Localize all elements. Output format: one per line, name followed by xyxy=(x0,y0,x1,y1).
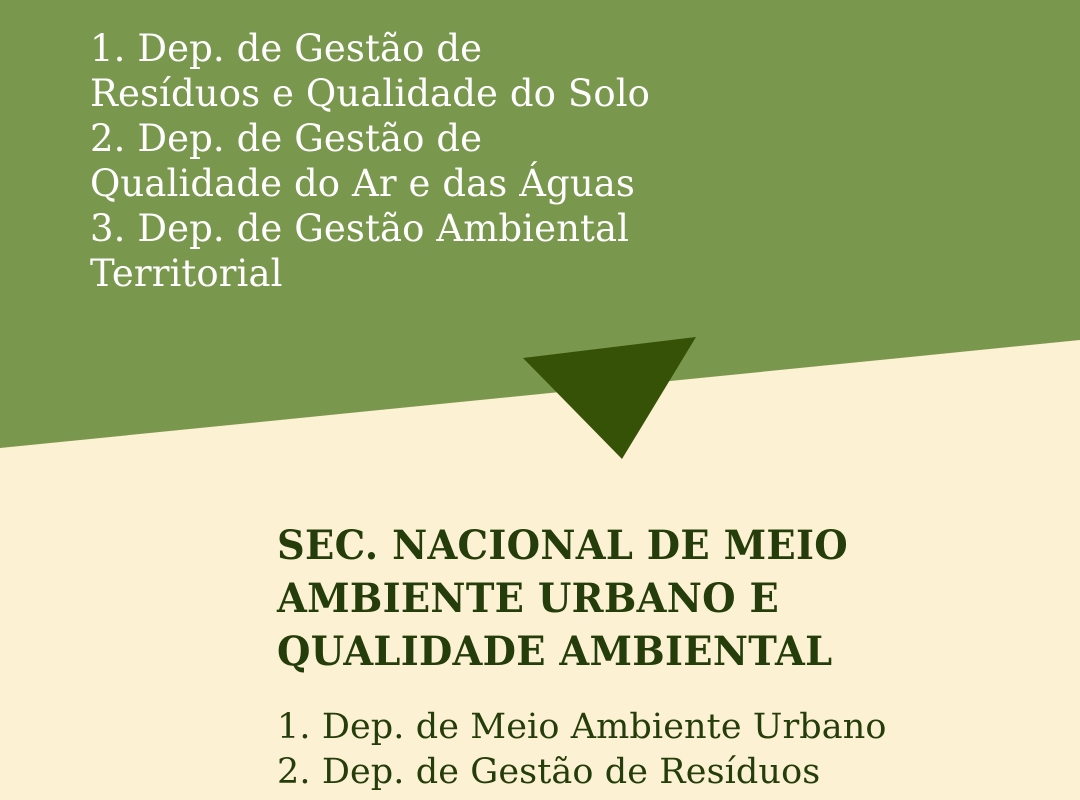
cream-section-department-list: 1. Dep. de Meio Ambiente Urbano 2. Dep. … xyxy=(277,705,1037,795)
page-title: SEC. NACIONAL DE MEIO AMBIENTE URBANO E … xyxy=(277,519,911,678)
slide-canvas: 1. Dep. de Gestão de Resíduos e Qualidad… xyxy=(0,0,1080,800)
green-section-department-list: 1. Dep. de Gestão de Resíduos e Qualidad… xyxy=(90,26,790,296)
